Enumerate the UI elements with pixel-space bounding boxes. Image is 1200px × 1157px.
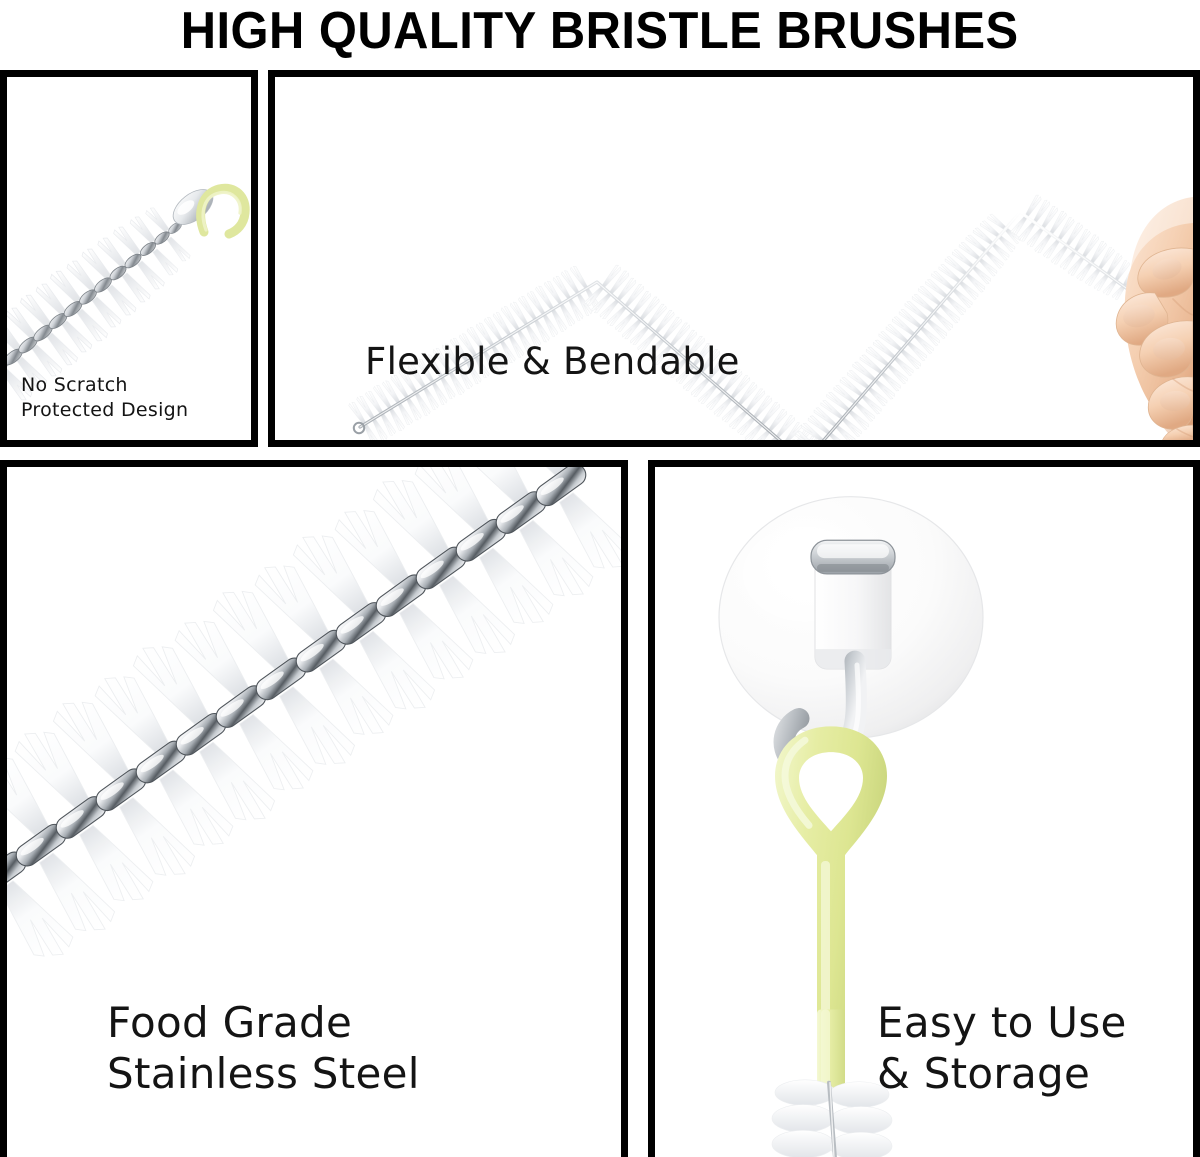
panel-food-grade-stainless-steel: Food Grade Stainless Steel — [0, 460, 628, 1157]
metal-cap — [811, 540, 895, 574]
brush-bristles-bottom — [772, 1080, 892, 1157]
caption-no-scratch: No Scratch Protected Design — [21, 373, 188, 422]
product-infographic: HIGH QUALITY BRISTLE BRUSHES — [0, 0, 1200, 1157]
zigzag-bent-brush-held-in-hand — [275, 77, 1193, 440]
loop-handle — [775, 726, 887, 1088]
panel-flexible-bendable: Flexible & Bendable — [268, 70, 1200, 447]
caption-easy-to-use-storage: Easy to Use & Storage — [877, 997, 1127, 1099]
caption-flexible-bendable: Flexible & Bendable — [365, 340, 740, 384]
page-title: HIGH QUALITY BRISTLE BRUSHES — [181, 5, 1019, 57]
header-band: HIGH QUALITY BRISTLE BRUSHES — [0, 0, 1200, 62]
brush-segment-d — [1009, 193, 1141, 306]
hand-grip-icon — [1116, 197, 1193, 440]
brush-segment-c — [786, 209, 1026, 440]
caption-food-grade-stainless-steel: Food Grade Stainless Steel — [107, 997, 420, 1099]
panel-easy-to-use-storage: Easy to Use & Storage — [648, 460, 1200, 1157]
panel-no-scratch: No Scratch Protected Design — [0, 70, 258, 447]
